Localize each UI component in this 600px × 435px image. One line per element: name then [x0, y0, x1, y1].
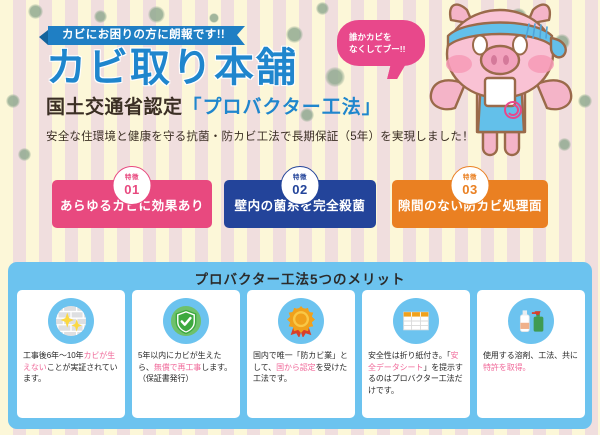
feature-badge-01: 特徴 01 — [113, 166, 152, 205]
merit-text-highlight: 特許を取得。 — [483, 363, 530, 372]
pig-mascot — [425, 0, 575, 166]
landing-page: カビにお困りの方に朗報です!! カビ取り本舗 国土交通省認定「プロバクター工法」… — [0, 0, 600, 435]
feature-badge-kicker: 特徴 — [293, 175, 307, 182]
hero-ribbon-banner: カビにお困りの方に朗報です!! — [48, 26, 237, 45]
feature-box-03[interactable]: 特徴 03 隙間のない防カビ処理面 — [392, 180, 548, 228]
data-sheet-icon — [393, 298, 439, 344]
merit-text-highlight: 無償で再工事 — [154, 363, 201, 372]
merit-card-text: 工事後6年～10年カビが生えないことが実証されています。 — [23, 350, 120, 385]
merit-card-text: 5年以内にカビが生えたら、無償で再工事します。（保証書発行） — [138, 350, 235, 385]
merit-card-text: 国内で唯一「防カビ業」として、国から認定を受けた工法です。 — [253, 350, 350, 385]
merit-text-highlight: 国から認定 — [276, 363, 316, 372]
merit-text-plain: 工事後6年～10年 — [23, 351, 83, 360]
hero-subtitle: 国土交通省認定「プロバクター工法」 — [46, 98, 382, 117]
shield-check-icon — [163, 298, 209, 344]
spray-bottle-icon — [508, 298, 554, 344]
merit-card[interactable]: 使用する溶剤、工法、共に特許を取得。 — [477, 290, 585, 418]
brick-wall-sparkle-icon — [48, 298, 94, 344]
hero-subtitle-certification: 国土交通省認定 — [46, 97, 183, 118]
merit-card[interactable]: 工事後6年～10年カビが生えないことが実証されています。 — [17, 290, 125, 418]
speech-bubble: 誰かカビを なくしてブー!! — [337, 20, 425, 66]
merit-text-plain: 安全性は折り紙付き。「 — [368, 351, 451, 360]
merits-card-list: 工事後6年～10年カビが生えないことが実証されています。 5年以内にカビが生えた… — [17, 290, 585, 418]
page-title: カビ取り本舗 — [46, 48, 298, 88]
feature-box-01[interactable]: 特徴 01 あらゆるカビに効果あり — [52, 180, 212, 228]
merits-panel: プロバクター工法5つのメリット — [8, 262, 592, 429]
hero-subtitle-method: 「プロバクター工法」 — [183, 97, 382, 118]
feature-badge-kicker: 特徴 — [125, 175, 139, 182]
feature-badge-kicker: 特徴 — [463, 175, 477, 182]
feature-box-02[interactable]: 特徴 02 壁内の菌糸を完全殺菌 — [224, 180, 376, 228]
merit-card[interactable]: 安全性は折り紙付き。「安全データシート」を提示するのはプロバクター工法だけです。 — [362, 290, 470, 418]
feature-badge-number: 02 — [292, 183, 307, 196]
merit-card-text: 安全性は折り紙付き。「安全データシート」を提示するのはプロバクター工法だけです。 — [368, 350, 465, 396]
feature-badge-number: 01 — [124, 183, 139, 196]
feature-boxes: 特徴 01 あらゆるカビに効果あり 特徴 02 壁内の菌糸を完全殺菌 特徴 03… — [0, 168, 600, 230]
feature-badge-number: 03 — [462, 183, 477, 196]
merit-text-plain: 使用する溶剤、工法、共に — [483, 351, 578, 360]
feature-badge-03: 特徴 03 — [451, 166, 490, 205]
feature-badge-02: 特徴 02 — [281, 166, 320, 205]
merit-card-text: 使用する溶剤、工法、共に特許を取得。 — [483, 350, 580, 373]
speech-bubble-text: 誰かカビを なくしてブー!! — [337, 20, 425, 66]
merit-card[interactable]: 国内で唯一「防カビ業」として、国から認定を受けた工法です。 — [247, 290, 355, 418]
merit-card[interactable]: 5年以内にカビが生えたら、無償で再工事します。（保証書発行） — [132, 290, 240, 418]
merits-title: プロバクター工法5つのメリット — [8, 268, 592, 288]
hero-lead-text: 安全な住環境と健康を守る抗菌・防カビ工法で長期保証（5年）を実現しました！ — [46, 128, 474, 144]
award-medal-icon — [278, 298, 324, 344]
